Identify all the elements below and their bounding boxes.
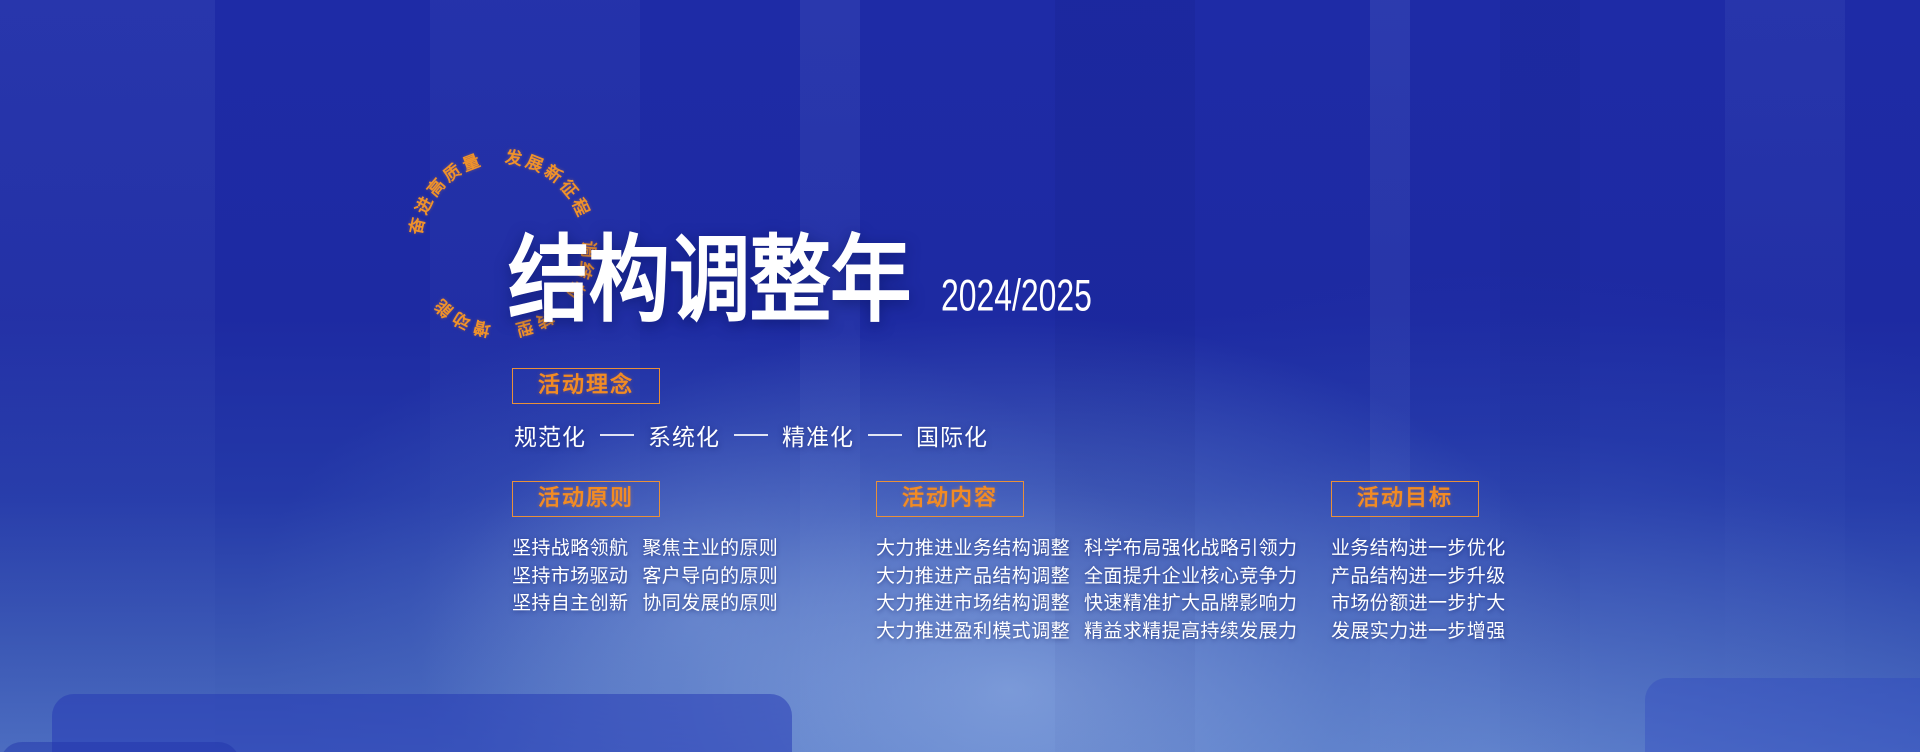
background-band-1 <box>0 0 215 752</box>
list-item-primary: 坚持战略领航 <box>512 535 628 563</box>
list-item: 发展实力进一步增强 <box>1331 618 1506 646</box>
list-item: 大力推进产品结构调整全面提升企业核心竞争力 <box>876 563 1297 591</box>
list-item-secondary: 快速精准扩大品牌影响力 <box>1084 590 1297 618</box>
list-item: 大力推进盈利模式调整精益求精提高持续发展力 <box>876 618 1297 646</box>
concept-keyword-list: 规范化系统化精准化国际化 <box>512 418 990 452</box>
title-block: 结构调整年 2024/2025 <box>508 243 1121 327</box>
concept-keyword: 精准化 <box>782 418 854 452</box>
list-item: 产品结构进一步升级 <box>1331 563 1506 591</box>
list-item: 大力推进业务结构调整科学布局强化战略引领力 <box>876 535 1297 563</box>
list-item-primary: 大力推进市场结构调整 <box>876 590 1070 618</box>
badge-activity-concept[interactable]: 活动理念 <box>512 368 660 404</box>
list-item-primary: 产品结构进一步升级 <box>1331 563 1506 591</box>
concept-keyword: 规范化 <box>514 418 586 452</box>
list-item: 大力推进市场结构调整快速精准扩大品牌影响力 <box>876 590 1297 618</box>
concept-keyword: 国际化 <box>916 418 988 452</box>
concept-separator <box>868 434 902 436</box>
list-item-primary: 大力推进盈利模式调整 <box>876 618 1070 646</box>
list-item-secondary: 协同发展的原则 <box>642 590 778 618</box>
concept-separator <box>734 434 768 436</box>
list-item-primary: 发展实力进一步增强 <box>1331 618 1506 646</box>
background-card-5 <box>0 742 240 752</box>
list-item-secondary: 全面提升企业核心竞争力 <box>1084 563 1297 591</box>
background-band-6 <box>1500 0 1580 752</box>
list-item-primary: 市场份额进一步扩大 <box>1331 590 1506 618</box>
list-item: 坚持战略领航聚焦主业的原则 <box>512 535 778 563</box>
list-item: 坚持自主创新协同发展的原则 <box>512 590 778 618</box>
list-item-primary: 大力推进产品结构调整 <box>876 563 1070 591</box>
list-item-secondary: 聚焦主业的原则 <box>642 535 778 563</box>
badge-activity-goal[interactable]: 活动目标 <box>1331 481 1479 517</box>
badge-activity-principle[interactable]: 活动原则 <box>512 481 660 517</box>
column-activity-goal: 业务结构进一步优化产品结构进一步升级市场份额进一步扩大发展实力进一步增强 <box>1331 535 1506 645</box>
background-card-4 <box>1645 678 1920 752</box>
background-card-1 <box>52 694 792 752</box>
list-item-secondary: 客户导向的原则 <box>642 563 778 591</box>
background-band-7 <box>1725 0 1845 752</box>
list-item-primary: 坚持自主创新 <box>512 590 628 618</box>
list-item-secondary: 精益求精提高持续发展力 <box>1084 618 1297 646</box>
column-activity-principle: 坚持战略领航聚焦主业的原则坚持市场驱动客户导向的原则坚持自主创新协同发展的原则 <box>512 535 778 618</box>
list-item: 市场份额进一步扩大 <box>1331 590 1506 618</box>
background-band-3 <box>800 0 860 752</box>
concept-keyword: 系统化 <box>648 418 720 452</box>
list-item-primary: 大力推进业务结构调整 <box>876 535 1070 563</box>
list-item-primary: 业务结构进一步优化 <box>1331 535 1506 563</box>
concept-separator <box>600 434 634 436</box>
title-year: 2024/2025 <box>941 274 1092 319</box>
list-item: 业务结构进一步优化 <box>1331 535 1506 563</box>
poster-canvas: 奋进高质量发展新征程调结构转型增动能 结构调整年 2024/2025 活动理念 … <box>0 0 1920 752</box>
list-item: 坚持市场驱动客户导向的原则 <box>512 563 778 591</box>
column-activity-content: 大力推进业务结构调整科学布局强化战略引领力大力推进产品结构调整全面提升企业核心竞… <box>876 535 1297 645</box>
page-title: 结构调整年 <box>508 233 911 327</box>
badge-activity-content[interactable]: 活动内容 <box>876 481 1024 517</box>
list-item-primary: 坚持市场驱动 <box>512 563 628 591</box>
list-item-secondary: 科学布局强化战略引领力 <box>1084 535 1297 563</box>
